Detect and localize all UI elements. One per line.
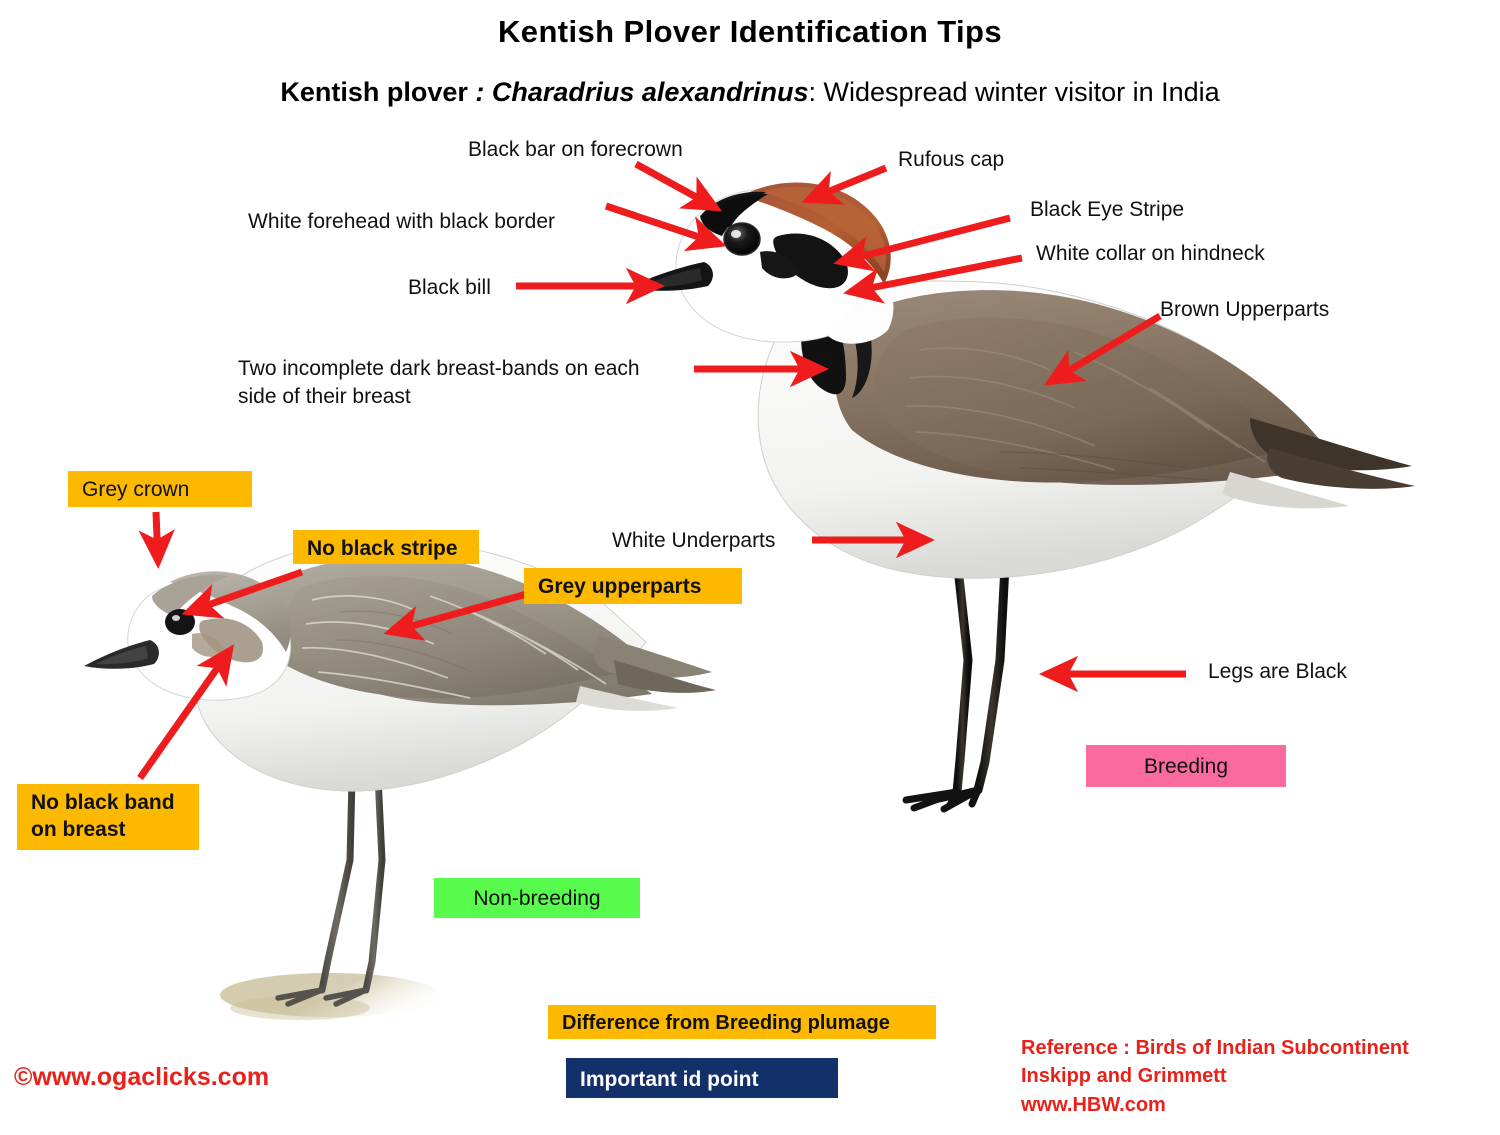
label-white-underparts: White Underparts (612, 527, 775, 555)
label-black-bar-on-forecrown: Black bar on forecrown (468, 136, 683, 164)
label-legs-are-black: Legs are Black (1208, 658, 1347, 686)
label-black-eye-stripe: Black Eye Stripe (1030, 196, 1184, 224)
copyright-watermark: ©www.ogaclicks.com (14, 1063, 269, 1092)
label-white-collar-on-hindneck: White collar on hindneck (1036, 240, 1265, 268)
tag-grey-upperparts: Grey upperparts (524, 568, 742, 604)
reference-citation: Reference : Birds of Indian Subcontinent… (1021, 1034, 1409, 1119)
bird-illustrations (0, 0, 1500, 1135)
legend-important-id-point: Important id point (566, 1058, 838, 1098)
nonbreeding-plover-illustration (84, 540, 716, 1020)
tag-non-breeding: Non-breeding (434, 878, 640, 918)
tag-no-black-stripe: No black stripe (293, 530, 479, 564)
label-black-bill: Black bill (408, 274, 491, 302)
label-two-incomplete-dark-breast-bands: Two incomplete dark breast-bands on each… (238, 355, 640, 410)
breeding-plover-illustration (628, 183, 1415, 809)
label-brown-upperparts: Brown Upperparts (1160, 296, 1329, 324)
tag-breeding: Breeding (1086, 745, 1286, 787)
tag-grey-crown: Grey crown (68, 471, 252, 507)
label-white-forehead-with-black-border: White forehead with black border (248, 208, 555, 236)
legend-difference-from-breeding-plumage: Difference from Breeding plumage (548, 1005, 936, 1039)
tag-no-black-band-on-breast: No black band on breast (17, 784, 199, 850)
infographic-page: Kentish Plover Identification Tips Kenti… (0, 0, 1500, 1135)
label-rufous-cap: Rufous cap (898, 146, 1004, 174)
